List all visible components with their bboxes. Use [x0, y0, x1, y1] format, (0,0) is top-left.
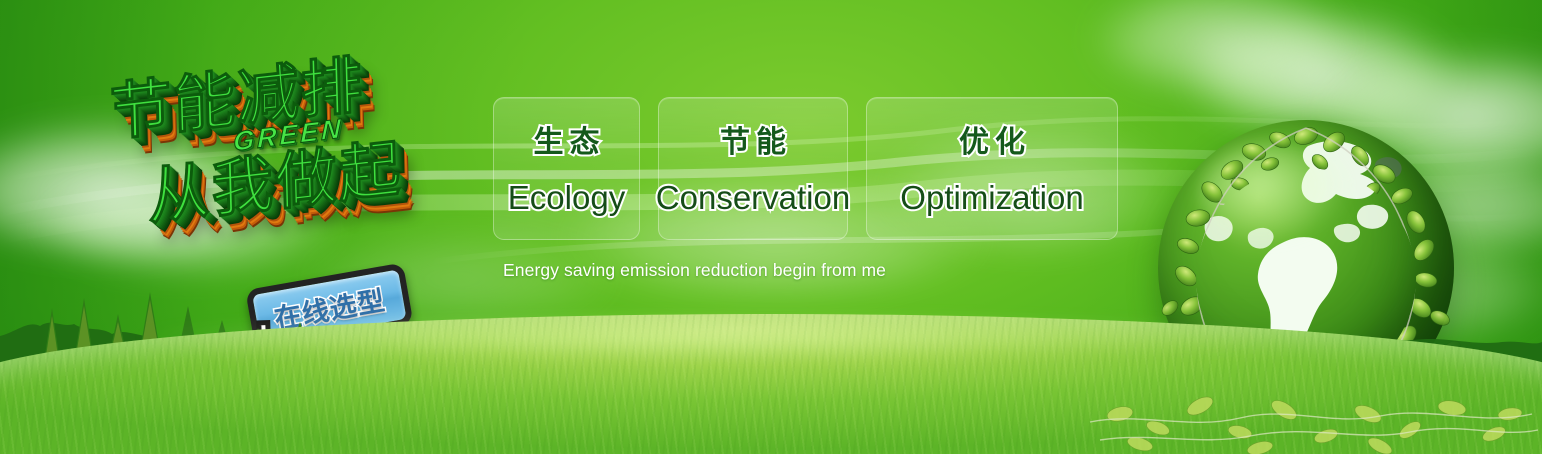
feature-card-title-en: Ecology	[508, 181, 625, 216]
feature-card-title-zh: 优化	[953, 126, 1031, 159]
banner-tagline: Energy saving emission reduction begin f…	[503, 260, 886, 281]
feature-card-ecology[interactable]: 生态 Ecology	[493, 97, 640, 240]
globe-specular-highlight	[1199, 144, 1353, 245]
feature-card-optimization[interactable]: 优化 Optimization	[866, 97, 1118, 240]
feature-card-conservation[interactable]: 节能 Conservation	[658, 97, 848, 240]
feature-card-title-en: Conservation	[656, 181, 850, 216]
feature-card-title-en: Optimization	[900, 181, 1083, 216]
hero-title-art: 节能减排 GREEN 从我做起	[95, 38, 495, 268]
feature-card-list: 生态 Ecology 节能 Conservation 优化 Optimizati…	[493, 97, 1118, 240]
green-energy-banner: 节能减排 GREEN 从我做起 在线选型 生态 Ecology 节能 Conse…	[0, 0, 1542, 454]
fallen-leaves-icon	[1080, 344, 1542, 454]
feature-card-title-zh: 节能	[714, 126, 792, 159]
feature-card-title-zh: 生态	[528, 126, 606, 159]
